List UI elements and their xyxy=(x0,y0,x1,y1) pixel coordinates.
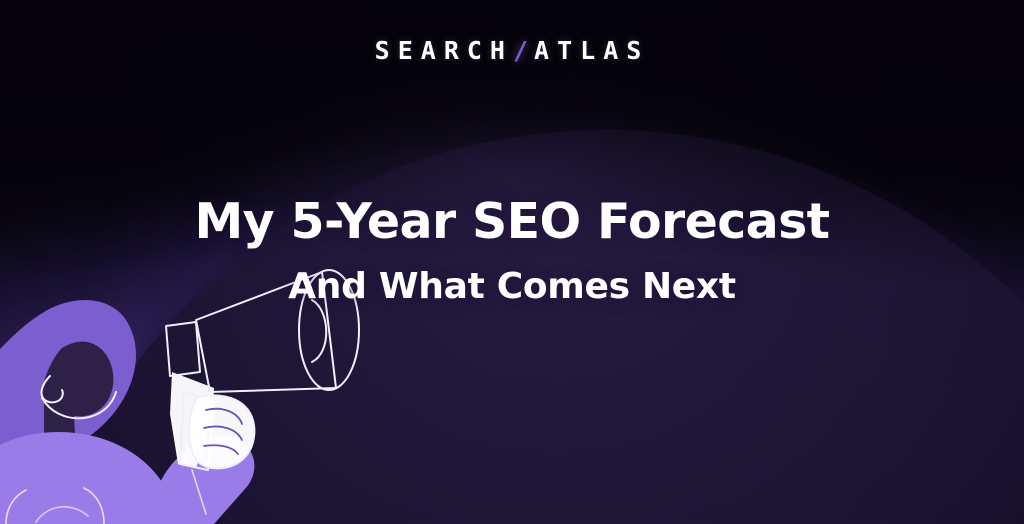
brand-logo-slash-icon: / xyxy=(513,36,534,65)
promo-banner: SEARCH/ATLAS My 5-Year SEO Forecast And … xyxy=(0,0,1024,524)
brand-logo: SEARCH/ATLAS xyxy=(0,36,1024,65)
brand-logo-text: SEARCH/ATLAS xyxy=(375,36,650,65)
page-title: My 5-Year SEO Forecast xyxy=(40,196,984,249)
brand-logo-right-word: ATLAS xyxy=(534,36,649,65)
page-subtitle: And What Comes Next xyxy=(40,267,984,307)
headline-block: My 5-Year SEO Forecast And What Comes Ne… xyxy=(0,196,1024,307)
brand-logo-left-word: SEARCH xyxy=(375,36,513,65)
